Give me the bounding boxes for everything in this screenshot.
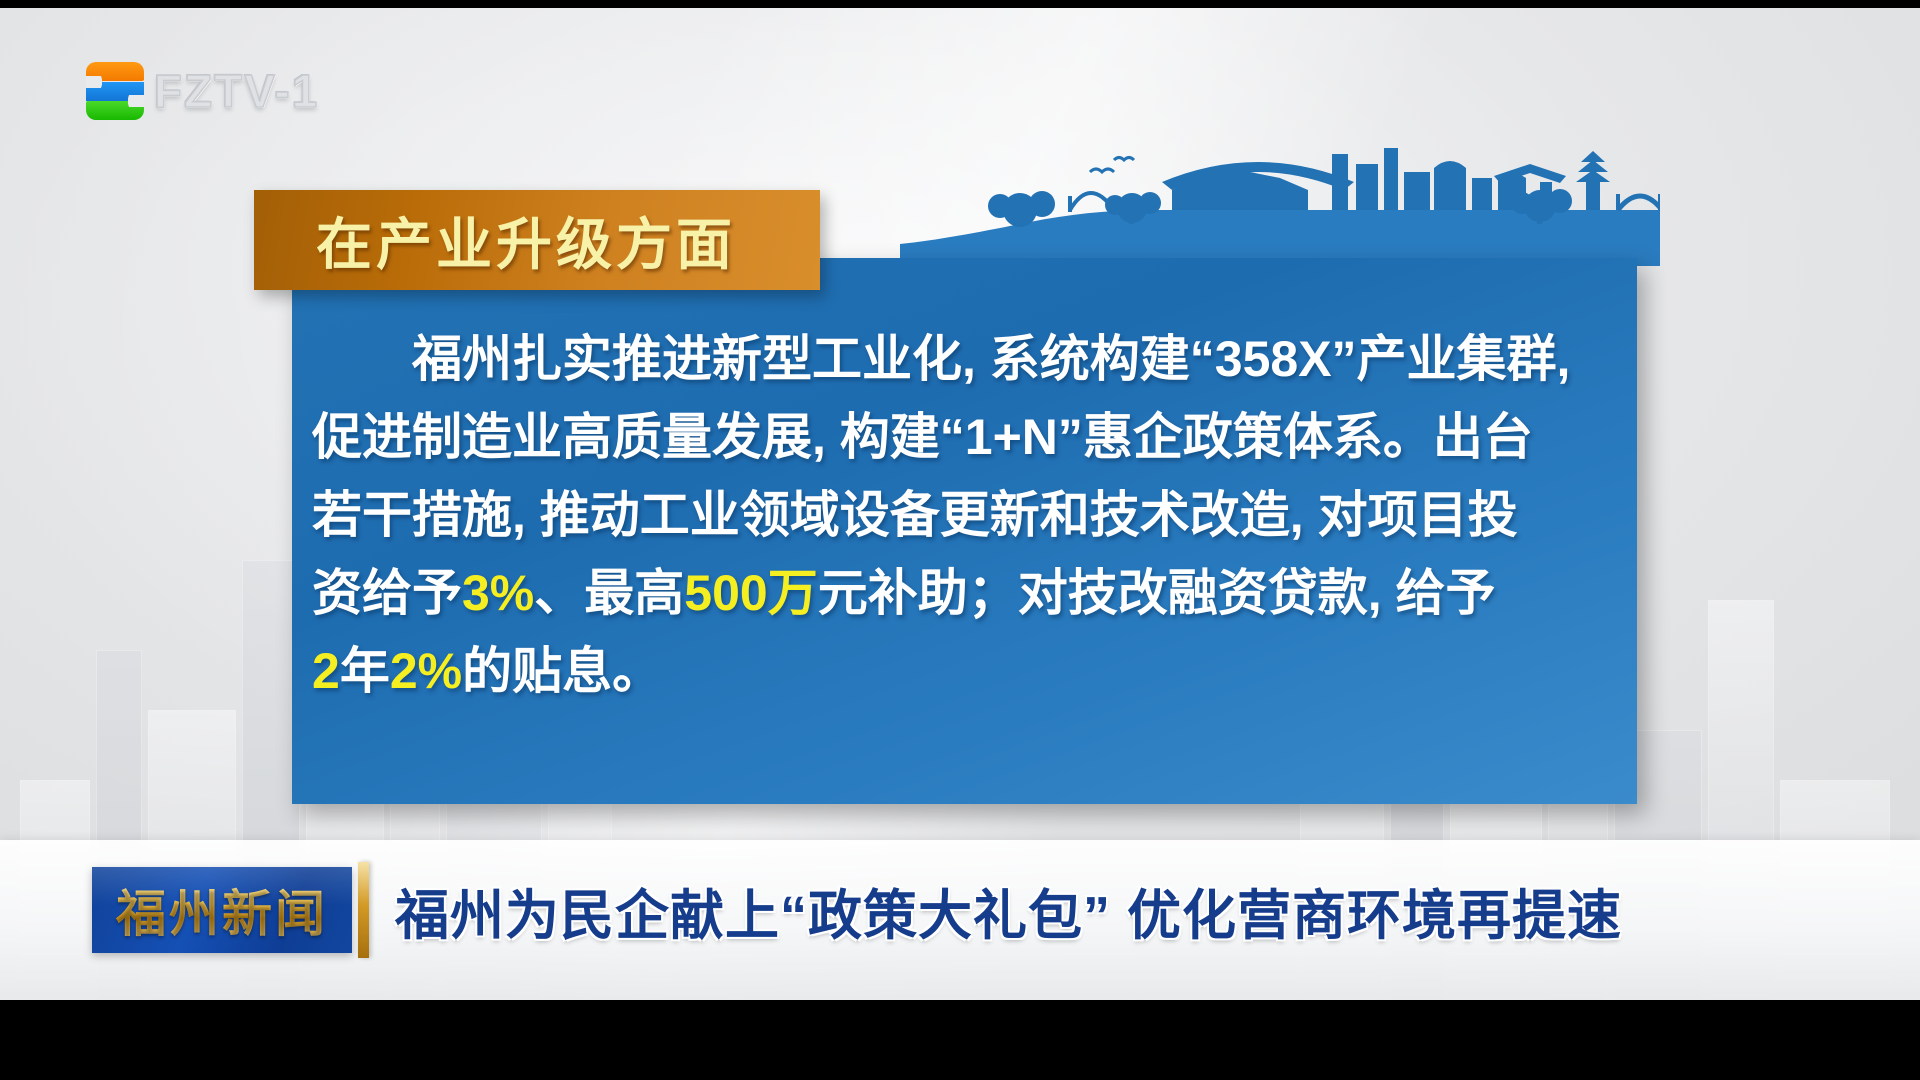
section-title-text: 在产业升级方面 — [316, 200, 736, 281]
panel-line: 促进制造业高质量发展, 构建“1+N”惠企政策体系。出台 — [312, 398, 1609, 476]
panel-text-segment: 福州扎实推进新型工业化, 系统构建“358X”产业集群, — [412, 331, 1570, 387]
panel-text-segment: 促进制造业高质量发展, 构建“1+N”惠企政策体系。出台 — [312, 409, 1533, 465]
panel-line: 2年2%的贴息。 — [312, 632, 1609, 710]
lower-third-divider — [358, 862, 369, 958]
panel-line: 若干措施, 推动工业领域设备更新和技术改造, 对项目投 — [312, 476, 1609, 554]
fztv-logo-icon — [86, 62, 144, 120]
program-badge: 福州新闻 — [92, 867, 352, 953]
city-skyline-icon — [900, 148, 1660, 266]
panel-text-block: 福州扎实推进新型工业化, 系统构建“358X”产业集群,促进制造业高质量发展, … — [312, 320, 1609, 710]
channel-logo-text: FZTV-1 — [154, 64, 319, 118]
panel-text-segment: 年 — [340, 643, 390, 699]
lower-third: 福州新闻 福州为民企献上“政策大礼包” 优化营商环境再提速 — [0, 855, 1920, 965]
panel-text-segment: 元补助；对技改融资贷款, 给予 — [818, 565, 1496, 621]
content-panel: 福州扎实推进新型工业化, 系统构建“358X”产业集群,促进制造业高质量发展, … — [292, 258, 1637, 804]
highlighted-figure: 2% — [390, 643, 462, 699]
letterbox-bottom — [0, 1000, 1920, 1080]
headline-text: 福州为民企献上“政策大礼包” 优化营商环境再提速 — [395, 871, 1622, 950]
channel-logo: FZTV-1 — [86, 62, 319, 120]
panel-text-segment: 资给予 — [312, 565, 462, 621]
highlighted-figure: 3% — [462, 565, 534, 621]
broadcast-screen: FZTV-1 — [0, 0, 1920, 1080]
panel-line: 福州扎实推进新型工业化, 系统构建“358X”产业集群, — [312, 320, 1609, 398]
letterbox-top — [0, 0, 1920, 8]
panel-text-segment: 、最高 — [534, 565, 684, 621]
panel-text-segment: 的贴息。 — [462, 643, 662, 699]
panel-line: 资给予3%、最高500万元补助；对技改融资贷款, 给予 — [312, 554, 1609, 632]
highlighted-figure: 500万 — [684, 565, 817, 621]
program-badge-text: 福州新闻 — [116, 874, 328, 946]
panel-text-segment: 若干措施, 推动工业领域设备更新和技术改造, 对项目投 — [312, 487, 1518, 543]
section-title-banner: 在产业升级方面 — [254, 190, 820, 290]
highlighted-figure: 2 — [312, 643, 340, 699]
